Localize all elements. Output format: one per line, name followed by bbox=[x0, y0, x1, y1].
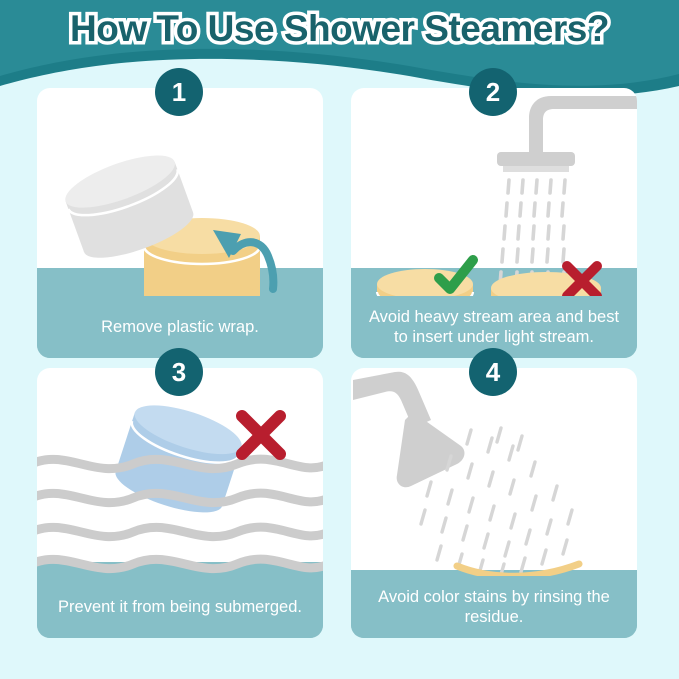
step-card-3: Prevent it from being submerged. bbox=[37, 368, 323, 638]
step-badge-2: 2 bbox=[469, 68, 517, 116]
step-badge-1: 1 bbox=[155, 68, 203, 116]
step-card-1: Remove plastic wrap. bbox=[37, 88, 323, 358]
step-caption-4: Avoid color stains by rinsing the residu… bbox=[351, 576, 637, 638]
step-badge-4: 4 bbox=[469, 348, 517, 396]
step-card-4: Avoid color stains by rinsing the residu… bbox=[351, 368, 637, 638]
step-badge-3: 3 bbox=[155, 348, 203, 396]
steps-grid: Remove plastic wrap. bbox=[0, 0, 679, 679]
page-title: How To Use Shower Steamers? bbox=[0, 8, 679, 50]
step-caption-3: Prevent it from being submerged. bbox=[37, 576, 323, 638]
step-card-2: Avoid heavy stream area and best to inse… bbox=[351, 88, 637, 358]
cross-mark-icon bbox=[242, 416, 280, 454]
shower-head-icon bbox=[497, 96, 637, 172]
